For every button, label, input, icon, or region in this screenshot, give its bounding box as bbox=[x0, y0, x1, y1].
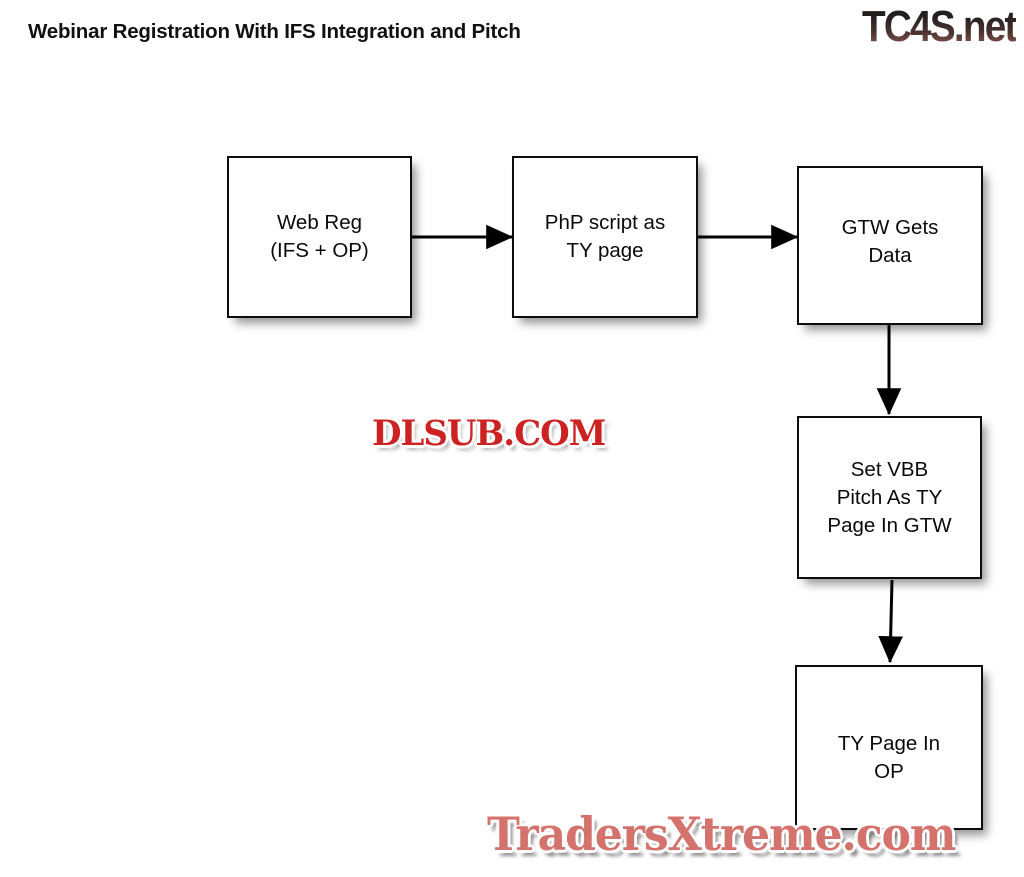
flow-node-label: Set VBB Pitch As TY Page In GTW bbox=[821, 456, 957, 540]
edge-vbb-to-typage bbox=[890, 580, 892, 662]
flow-node-gtw-gets-data[interactable]: GTW Gets Data bbox=[797, 166, 983, 325]
brand-logo-tc4s: TC4S.net bbox=[862, 3, 1016, 51]
flow-node-label: TY Page In OP bbox=[832, 730, 946, 786]
watermark-dlsub: DLSUB.COM bbox=[372, 414, 605, 454]
flow-node-php-script[interactable]: PhP script as TY page bbox=[512, 156, 698, 318]
diagram-canvas: Webinar Registration With IFS Integratio… bbox=[0, 0, 1024, 877]
watermark-tradersxtreme: TradersXtreme.com bbox=[487, 806, 955, 862]
flow-node-label: PhP script as TY page bbox=[539, 209, 671, 265]
page-title: Webinar Registration With IFS Integratio… bbox=[28, 20, 521, 44]
flow-node-web-reg[interactable]: Web Reg (IFS + OP) bbox=[227, 156, 412, 318]
flow-node-label: GTW Gets Data bbox=[836, 214, 945, 270]
flow-node-set-vbb-pitch[interactable]: Set VBB Pitch As TY Page In GTW bbox=[797, 416, 982, 579]
flow-node-label: Web Reg (IFS + OP) bbox=[264, 209, 375, 265]
